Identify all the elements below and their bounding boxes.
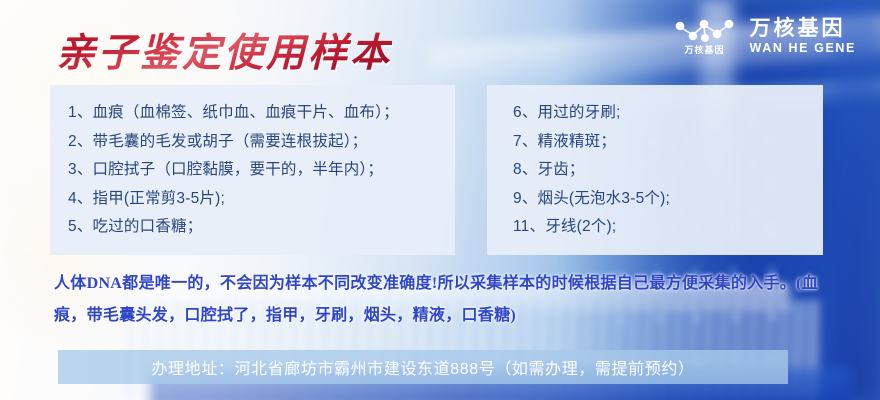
background-right-edge: [834, 0, 880, 400]
list-item: 11、牙线(2个);: [513, 213, 809, 242]
poster-root: 亲子鉴定使用样本: [0, 0, 880, 400]
list-item: 3、口腔拭子（口腔黏膜，要干的，半年内）；: [68, 156, 441, 185]
list-item: 4、指甲(正常剪3-5片);: [68, 185, 441, 214]
sample-list-right: 6、用过的牙刷; 7、精液精斑； 8、牙齿； 9、烟头(无泡水3-5个); 11…: [487, 85, 823, 255]
brand-text: 万核基因 WAN HE GENE: [750, 18, 857, 55]
list-item: 9、烟头(无泡水3-5个);: [513, 185, 809, 214]
brand-logo: 万核基因 万核基因 WAN HE GENE: [674, 18, 857, 55]
list-item: 8、牙齿；: [513, 156, 809, 185]
brand-name-en: WAN HE GENE: [750, 42, 857, 55]
page-title: 亲子鉴定使用样本: [56, 22, 392, 78]
list-item: 5、吃过的口香糖；: [68, 213, 441, 242]
note-paragraph: 人体DNA都是唯一的，不会因为样本不同改变准确度!所以采集样本的时候根据自己最方…: [54, 268, 844, 332]
address-bar-text: 办理地址：河北省廊坊市霸州市建设东道888号（如需办理，需提前预约）: [151, 355, 694, 379]
molecule-network-icon: [674, 18, 736, 44]
brand-name-cn: 万核基因: [750, 18, 857, 39]
address-bar: 办理地址：河北省廊坊市霸州市建设东道888号（如需办理，需提前预约）: [58, 350, 788, 384]
list-item: 7、精液精斑；: [513, 128, 809, 157]
brand-mark: 万核基因: [674, 18, 736, 55]
brand-mark-caption: 万核基因: [684, 46, 724, 55]
list-item: 2、带毛囊的毛发或胡子（需要连根拔起）；: [68, 128, 441, 157]
sample-list-left: 1、血痕（血棉签、纸巾血、血痕干片、血布）； 2、带毛囊的毛发或胡子（需要连根拔…: [50, 85, 455, 255]
list-item: 6、用过的牙刷;: [513, 99, 809, 128]
list-item: 1、血痕（血棉签、纸巾血、血痕干片、血布）；: [68, 99, 441, 128]
